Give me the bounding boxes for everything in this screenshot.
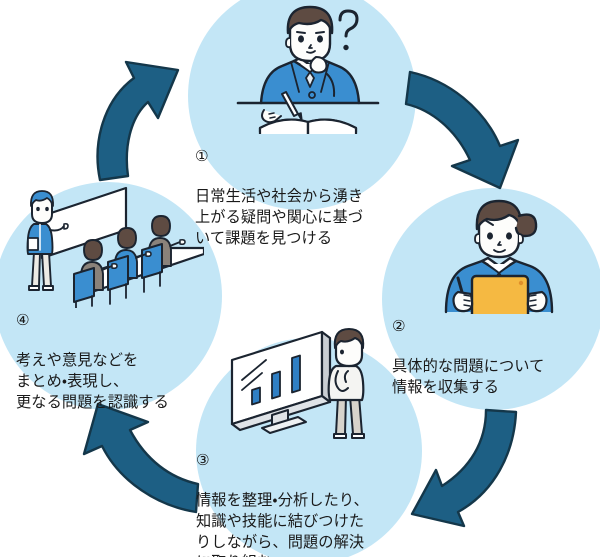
step-1-label: ① 日常生活や社会から湧き 上がる疑問や関心に基づ いて課題を見つける [195, 126, 363, 269]
arrow-step1-to-step2 [404, 70, 528, 192]
step-2-text: 具体的な問題について 情報を収集する [392, 356, 544, 397]
step-4-label: ④ 考えや意見などを まとめ・表現し、 更なる問題を認識する [16, 290, 169, 433]
step-3-label: ③ 情報を整理・分析したり、 知識や技能に結びつけた りしながら、問題の解決 に… [196, 430, 369, 557]
process-cycle-diagram: ① 日常生活や社会から湧き 上がる疑問や関心に基づ いて課題を見つける ② 具体… [0, 0, 600, 557]
step-2-number: ② [392, 317, 544, 336]
step-3-number: ③ [196, 451, 369, 470]
step-2-label: ② 具体的な問題について 情報を収集する [392, 296, 544, 418]
step-1-text: 日常生活や社会から湧き 上がる疑問や関心に基づ いて課題を見つける [195, 186, 363, 248]
step-4-text: 考えや意見などを まとめ・表現し、 更なる問題を認識する [16, 350, 169, 412]
arrow-step4-to-step1 [86, 56, 196, 182]
step-4-number: ④ [16, 311, 169, 330]
step-1-number: ① [195, 147, 363, 166]
step-3-text: 情報を整理・分析したり、 知識や技能に結びつけた りしながら、問題の解決 に取り… [196, 490, 369, 557]
